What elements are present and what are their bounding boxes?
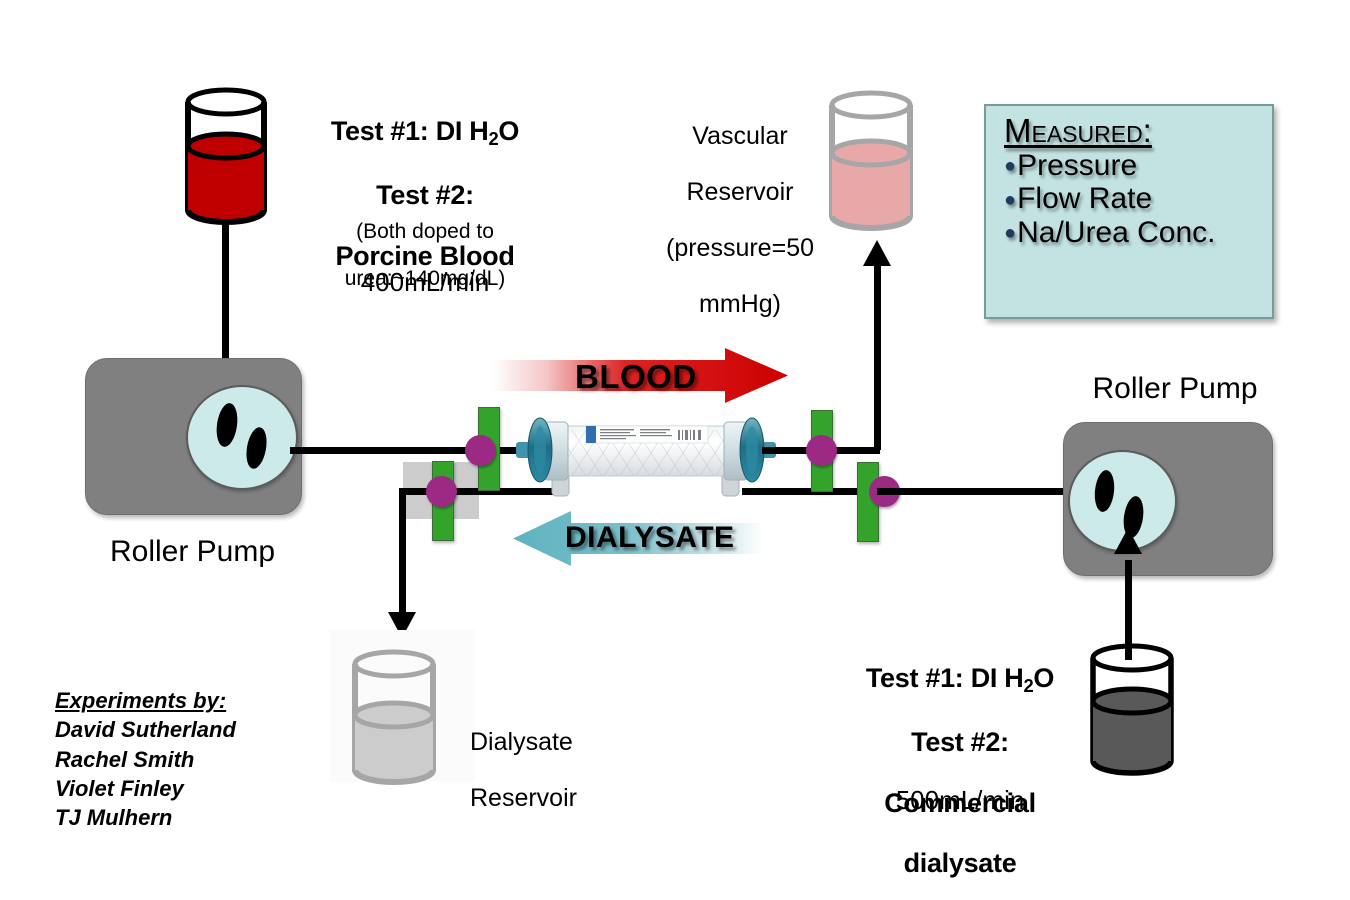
dialysate-source-line1-end: O	[1033, 663, 1054, 693]
valve-dialysate-outlet-knob[interactable]	[426, 476, 457, 507]
vascular-reservoir-beaker	[825, 88, 917, 236]
measured-item-na-urea-conc: ●Na/Urea Conc.	[1004, 216, 1258, 250]
dialysate-reservoir-line2: Reservoir	[470, 784, 650, 812]
measured-item-label: Flow Rate	[1017, 182, 1152, 215]
dialysate-source-line2: Test #2:	[845, 727, 1075, 757]
vascular-reservoir-line3: (pressure=50	[650, 234, 830, 262]
tube-right-pump-to-dialysate-inlet	[877, 488, 1070, 495]
dialysate-source-title: Test #1: DI H2O Test #2: Commercial dial…	[845, 633, 1075, 900]
measured-box: Measured: ●Pressure ●Flow Rate ●Na/Urea …	[984, 104, 1274, 319]
tube-dialysate-source-to-pump	[1125, 560, 1132, 660]
arrow-into-vascular-reservoir	[863, 240, 891, 266]
bullet-icon: ●	[1004, 222, 1016, 244]
blood-flow-label: BLOOD	[575, 358, 697, 396]
vascular-reservoir-line2: Reservoir	[650, 178, 830, 206]
blood-source-line1-end: O	[498, 116, 519, 146]
blood-source-flow-rate: 400mL/min	[295, 268, 555, 297]
credits-name: David Sutherland	[55, 715, 355, 744]
bullet-icon: ●	[1004, 189, 1016, 211]
blood-source-beaker	[182, 86, 270, 226]
blood-source-line1-sub: 2	[489, 128, 499, 149]
valve-blood-outlet-knob[interactable]	[806, 435, 837, 466]
dialysate-flow-label: DIALYSATE	[565, 521, 735, 555]
tube-up-to-vascular-reservoir	[874, 262, 881, 450]
dialysate-source-line1: Test #1: DI H	[866, 663, 1024, 693]
left-pump-roller-1	[214, 402, 240, 448]
measured-title: Measured:	[1004, 114, 1258, 149]
left-pump-label: Roller Pump	[85, 535, 300, 569]
dialysate-source-line1-sub: 2	[1024, 675, 1034, 696]
right-pump-label: Roller Pump	[1060, 372, 1290, 406]
dialysate-source-line4: dialysate	[845, 848, 1075, 878]
bullet-icon: ●	[1004, 155, 1016, 177]
left-pump-head	[186, 385, 298, 490]
arrow-into-right-pump	[1114, 528, 1142, 554]
right-pump-roller-1	[1093, 469, 1116, 513]
credits-block: Experiments by: David Sutherland Rachel …	[55, 686, 355, 832]
left-pump-roller-2	[243, 426, 269, 471]
vascular-reservoir-label: Vascular Reservoir (pressure=50 mmHg)	[650, 94, 830, 346]
credits-header: Experiments by:	[55, 686, 355, 715]
dialysate-source-beaker	[1087, 643, 1177, 779]
dialysate-reservoir-line1: Dialysate	[470, 728, 650, 756]
measured-item-flow-rate: ●Flow Rate	[1004, 182, 1258, 216]
dialyzer-cartridge	[516, 400, 776, 510]
vascular-reservoir-line1: Vascular	[650, 122, 830, 150]
blood-source-note-1: (Both doped to	[295, 220, 555, 244]
blood-source-line1: Test #1: DI H	[331, 116, 489, 146]
dialysate-reservoir-label: Dialysate Reservoir	[470, 700, 650, 840]
dialysate-reservoir-beaker	[348, 648, 440, 790]
diagram-canvas: Test #1: DI H2O Test #2: Porcine Blood (…	[0, 0, 1350, 900]
vascular-reservoir-line4: mmHg)	[650, 290, 830, 318]
valve-blood-inlet-knob[interactable]	[465, 435, 496, 466]
tube-dialysate-inlet-to-dialyzer	[742, 488, 872, 495]
measured-item-pressure: ●Pressure	[1004, 149, 1258, 183]
credits-name: TJ Mulhern	[55, 803, 355, 832]
dialysate-source-flow-rate: 500mL/min	[845, 786, 1075, 815]
credits-name: Rachel Smith	[55, 745, 355, 774]
credits-name: Violet Finley	[55, 774, 355, 803]
measured-item-label: Na/Urea Conc.	[1017, 216, 1215, 249]
measured-item-label: Pressure	[1017, 149, 1137, 182]
